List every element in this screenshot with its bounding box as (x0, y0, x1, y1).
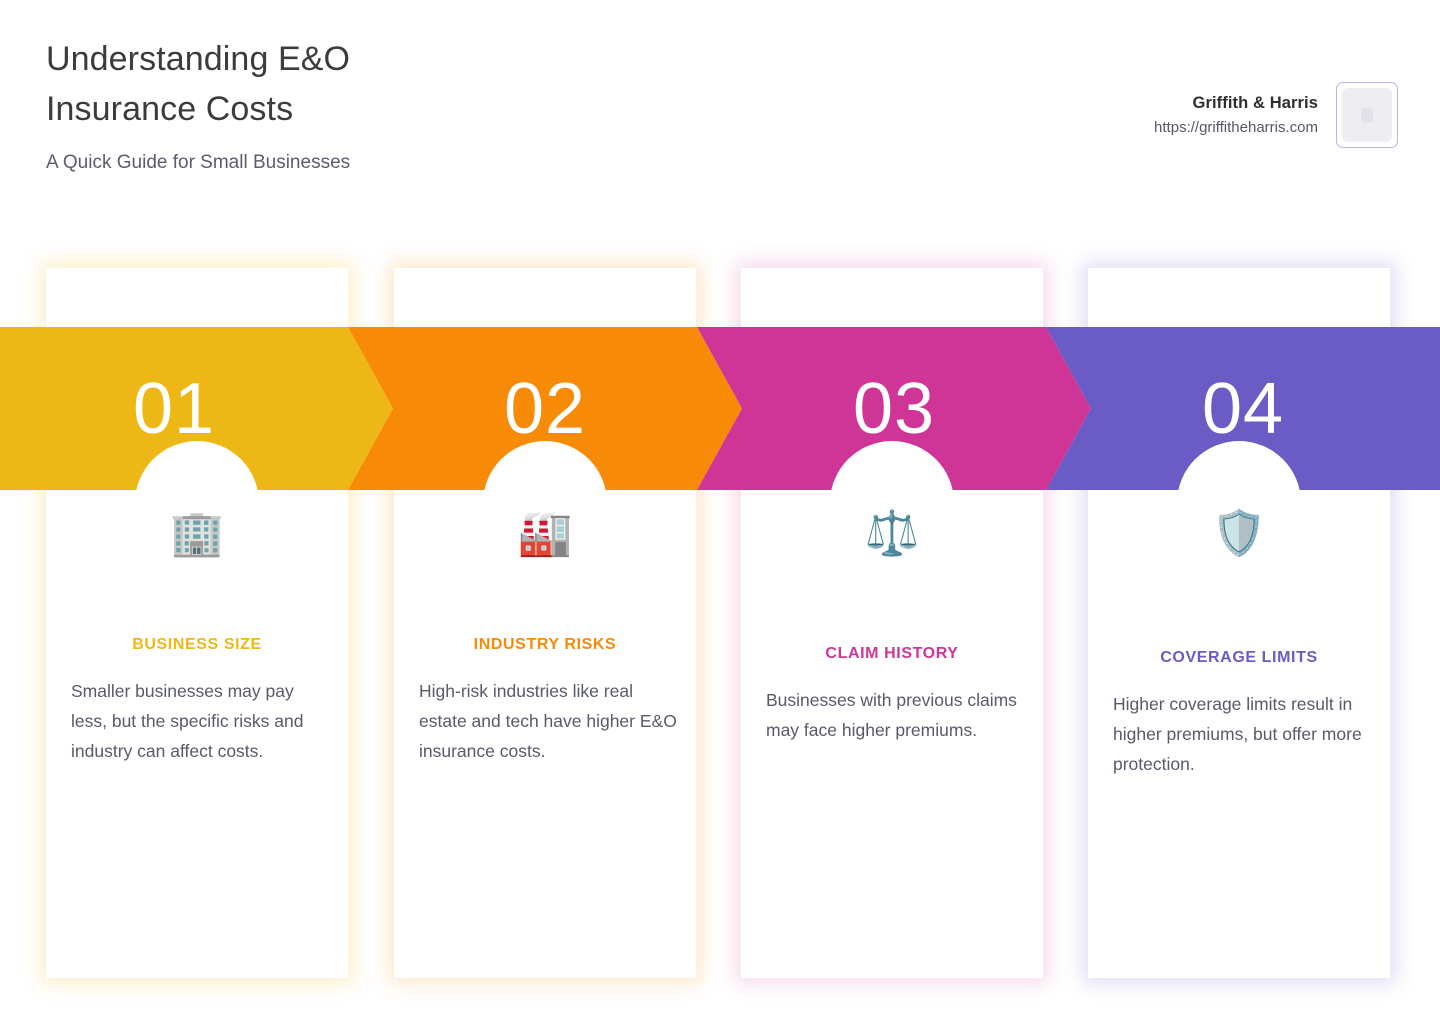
step-description-3: Businesses with previous claims may face… (758, 685, 1026, 745)
shield-icon: 🛡️ (1177, 500, 1301, 568)
step-content-1: BUSINESS SIZE Smaller businesses may pay… (63, 636, 331, 766)
balance-scale-icon: ⚖️ (830, 500, 954, 568)
step-number-1: 01 (0, 373, 348, 445)
step-description-1: Smaller businesses may pay less, but the… (63, 676, 331, 766)
title-block: Understanding E&O Insurance Costs A Quic… (46, 34, 806, 176)
brand-logo-placeholder[interactable] (1336, 82, 1398, 148)
brand-name: Griffith & Harris (1154, 92, 1318, 114)
step-description-2: High-risk industries like real estate an… (411, 676, 679, 766)
page-subtitle: A Quick Guide for Small Businesses (46, 150, 806, 176)
office-building-icon: 🏢 (135, 500, 259, 568)
step-heading-4: COVERAGE LIMITS (1105, 649, 1373, 667)
header: Understanding E&O Insurance Costs A Quic… (0, 0, 1440, 240)
step-content-2: INDUSTRY RISKS High-risk industries like… (411, 636, 679, 766)
factory-icon: 🏭 (483, 500, 607, 568)
step-heading-3: CLAIM HISTORY (758, 645, 1026, 663)
page-title: Understanding E&O Insurance Costs (46, 34, 806, 134)
brand-text: Griffith & Harris https://griffitheharri… (1154, 92, 1318, 138)
logo-image-placeholder (1342, 88, 1392, 142)
step-number-4: 04 (1091, 373, 1395, 445)
step-content-3: CLAIM HISTORY Businesses with previous c… (758, 645, 1026, 745)
image-placeholder-icon (1361, 108, 1373, 123)
step-description-4: Higher coverage limits result in higher … (1105, 689, 1373, 779)
step-number-2: 02 (393, 373, 697, 445)
brand-url[interactable]: https://griffitheharris.com (1154, 118, 1318, 138)
step-heading-1: BUSINESS SIZE (63, 636, 331, 654)
step-content-4: COVERAGE LIMITS Higher coverage limits r… (1105, 649, 1373, 779)
step-number-3: 03 (742, 373, 1046, 445)
brand-block: Griffith & Harris https://griffitheharri… (1154, 82, 1398, 148)
step-heading-2: INDUSTRY RISKS (411, 636, 679, 654)
